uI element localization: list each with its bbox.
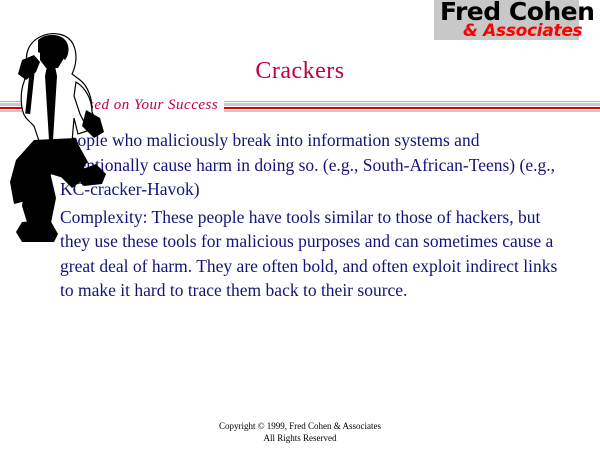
bullet-marker-icon: • bbox=[42, 205, 56, 230]
list-item-text: People who maliciously break into inform… bbox=[60, 128, 560, 202]
page-title: Crackers bbox=[0, 58, 600, 85]
list-item-text: Complexity: These people have tools simi… bbox=[60, 205, 560, 303]
slide-canvas: Fred Cohen & Associates Crackers used on… bbox=[0, 0, 600, 450]
list-item: • Complexity: These people have tools si… bbox=[40, 205, 560, 303]
logo-company-subtitle: & Associates bbox=[463, 22, 582, 41]
footer-rights-line: All Rights Reserved bbox=[0, 433, 600, 445]
footer: Copyright © 1999, Fred Cohen & Associate… bbox=[0, 421, 600, 444]
footer-copyright-line: Copyright © 1999, Fred Cohen & Associate… bbox=[0, 421, 600, 433]
list-item: • People who maliciously break into info… bbox=[40, 128, 560, 202]
body-content: • People who maliciously break into info… bbox=[40, 128, 560, 306]
tagline: used on Your Success bbox=[74, 97, 224, 114]
